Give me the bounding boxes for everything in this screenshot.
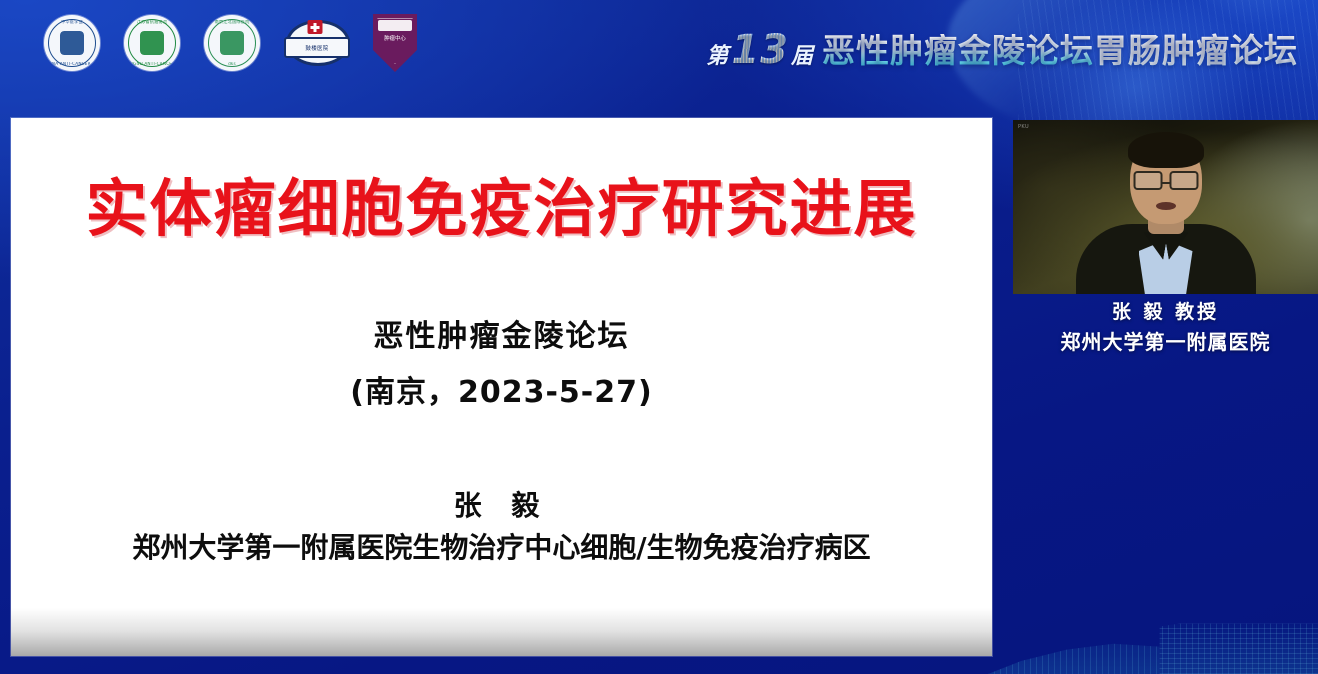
speaker-affiliation: 郑州大学第一附属医院 (1013, 329, 1318, 355)
logo-ring: 南京江北国际医院 dks (204, 15, 260, 71)
logo-bottom-text: JIANGSU ANTI-CANCER ASSOCIATION (124, 62, 180, 66)
logo-top-text: 中华医学会 (44, 20, 100, 24)
header-bar: 中华医学会 CHINA ANTI-CANCER ASSOCIATION 江苏省抗… (0, 0, 1318, 118)
logo-emblem-icon (60, 31, 84, 55)
logo-top-text: 江苏省抗癌协会 (124, 20, 180, 24)
slide-author-name: 张 毅 (454, 492, 550, 520)
banner-title-head: 恶性肿瘤金陵论坛 (822, 31, 1094, 70)
logo-ring: 江苏省抗癌协会 JIANGSU ANTI-CANCER ASSOCIATION (124, 15, 180, 71)
logo-top-text: 南京江北国际医院 (204, 20, 260, 24)
speaker-shirt (1139, 240, 1193, 294)
speaker-figure (1066, 144, 1266, 294)
logo-bottom-text: dks (204, 62, 260, 66)
presentation-slide[interactable]: 实体瘤细胞免疫治疗研究进展 恶性肿瘤金陵论坛 (南京，2023-5-27) 张 … (11, 118, 992, 656)
speaker-caption: 张 毅 教授 郑州大学第一附属医院 (1013, 300, 1318, 355)
logo-bottom-text: CHINA ANTI-CANCER ASSOCIATION (44, 62, 100, 66)
event-banner-title: 第13届 恶性肿瘤金陵论坛胃肠肿瘤论坛 (706, 26, 1298, 74)
banner-title-tail: 胃肠肿瘤论坛 (1094, 31, 1298, 70)
speaker-mouth (1156, 202, 1176, 210)
logo-emblem-icon (220, 31, 244, 55)
speaker-name: 张 毅 教授 (1013, 300, 1318, 325)
medical-cross-icon (308, 20, 323, 34)
shield-crest (378, 20, 412, 31)
banner-edition: 第13届 (706, 30, 814, 70)
logo-strip: 中华医学会 CHINA ANTI-CANCER ASSOCIATION 江苏省抗… (44, 14, 420, 72)
banner-suffix: 届 (791, 44, 814, 69)
logo-nanjing-medical-university: 南京江北国际医院 dks (204, 15, 260, 71)
logo-emblem-icon (140, 31, 164, 55)
logo-cancer-center-shield: 肿瘤中心 (370, 14, 420, 72)
slide-title: 实体瘤细胞免疫治疗研究进展 (85, 178, 917, 240)
slide-content: 实体瘤细胞免疫治疗研究进展 恶性肿瘤金陵论坛 (南京，2023-5-27) 张 … (11, 118, 992, 656)
slide-location-date: (南京，2023-5-27) (350, 378, 652, 408)
speaker-glasses-left-lens (1133, 171, 1162, 190)
logo-jiangsu-cancer-society: 江苏省抗癌协会 JIANGSU ANTI-CANCER ASSOCIATION (124, 15, 180, 71)
slide-footer-strip (11, 608, 992, 656)
speaker-glasses-right-lens (1169, 171, 1198, 190)
speaker-video-feed[interactable]: PKU (1013, 120, 1318, 294)
banner-prefix: 第 (706, 44, 729, 69)
speaker-glasses-bridge (1161, 182, 1170, 184)
slide-subtitle: 恶性肿瘤金陵论坛 (374, 322, 630, 352)
banner-main-title: 恶性肿瘤金陵论坛胃肠肿瘤论坛 (822, 34, 1298, 67)
slide-author-affiliation: 郑州大学第一附属医院生物治疗中心细胞/生物免疫治疗病区 (132, 532, 870, 564)
logo-hospital-banner: 鼓楼医院 (284, 16, 346, 70)
speaker-hair (1128, 132, 1204, 168)
logo-ring: 中华医学会 CHINA ANTI-CANCER ASSOCIATION (44, 15, 100, 71)
shield-label: 肿瘤中心 (370, 36, 420, 43)
banner-number: 13 (729, 27, 791, 73)
screen: 中华医学会 CHINA ANTI-CANCER ASSOCIATION 江苏省抗… (0, 0, 1318, 674)
logo-china-anti-cancer-association: 中华医学会 CHINA ANTI-CANCER ASSOCIATION (44, 15, 100, 71)
logo-ribbon-text: 鼓楼医院 (284, 37, 350, 58)
video-watermark: PKU (1018, 124, 1029, 130)
